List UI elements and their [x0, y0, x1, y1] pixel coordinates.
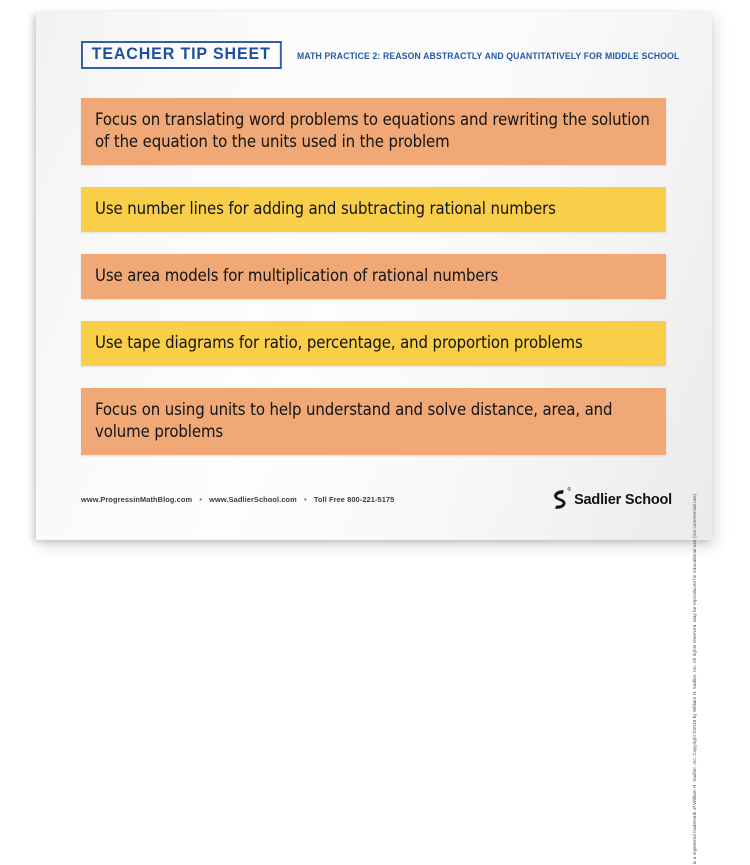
tip-text: Focus on using units to help understand … — [95, 399, 652, 443]
sadlier-school-logo: ® Sadlier School — [551, 489, 672, 510]
tip-bar-1: Focus on translating word problems to eq… — [81, 98, 666, 165]
footer-separator: • — [194, 495, 207, 504]
site-url-link[interactable]: www.SadlierSchool.com — [209, 495, 297, 504]
tip-list: Focus on translating word problems to eq… — [81, 98, 666, 455]
tip-bar-2: Use number lines for adding and subtract… — [81, 187, 666, 232]
copyright-notice: is a registered trademark of William H. … — [693, 494, 698, 865]
tip-text: Focus on translating word problems to eq… — [95, 109, 652, 153]
tip-sheet-document: TEACHER TIP SHEET MATH PRACTICE 2: REASO… — [36, 12, 712, 540]
tip-text: Use number lines for adding and subtract… — [95, 198, 652, 220]
document-subtitle: MATH PRACTICE 2: REASON ABSTRACTLY AND Q… — [297, 50, 679, 61]
logo-wordmark: Sadlier School — [574, 492, 672, 508]
registered-trademark-icon: ® — [567, 488, 571, 493]
tip-bar-3: Use area models for multiplication of ra… — [81, 254, 666, 299]
toll-free-phone: Toll Free 800-221-5175 — [314, 495, 395, 504]
tip-bar-4: Use tape diagrams for ratio, percentage,… — [81, 321, 666, 366]
blog-url-link[interactable]: www.ProgressinMathBlog.com — [81, 495, 192, 504]
document-header: TEACHER TIP SHEET MATH PRACTICE 2: REASO… — [81, 42, 682, 68]
teacher-tip-sheet-badge: TEACHER TIP SHEET — [81, 41, 281, 69]
footer-separator: • — [299, 495, 312, 504]
tip-text: Use tape diagrams for ratio, percentage,… — [95, 332, 652, 354]
page-canvas: TEACHER TIP SHEET MATH PRACTICE 2: REASO… — [0, 0, 750, 576]
tip-bar-5: Focus on using units to help understand … — [81, 388, 666, 455]
footer-links: www.ProgressinMathBlog.com • www.Sadlier… — [81, 495, 394, 504]
sadlier-s-mark-icon: ® — [551, 489, 568, 510]
tip-text: Use area models for multiplication of ra… — [95, 265, 652, 287]
